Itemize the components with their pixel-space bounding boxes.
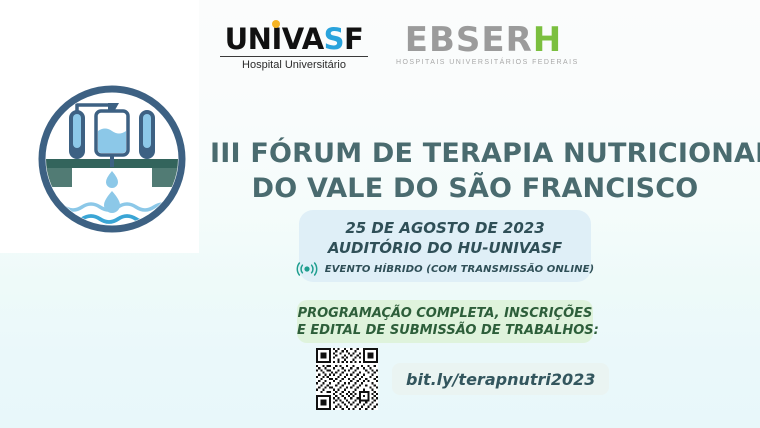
qr-link-row: bit.ly/terapnutri2023	[316, 346, 596, 412]
institution-logos: UNIVASF Hospital Universitário EBSERH HO…	[218, 22, 578, 78]
hybrid-event-row: EVENTO HÍBRIDO (COM TRANSMISSÃO ONLINE)	[299, 261, 591, 277]
short-url-text: bit.ly/terapnutri2023	[406, 370, 595, 389]
event-date: 25 DE AGOSTO DE 2023	[299, 218, 591, 238]
title-line-1: III FÓRUM DE TERAPIA NUTRICIONAL	[210, 136, 740, 171]
event-info-box: 25 DE AGOSTO DE 2023 AUDITÓRIO DO HU-UNI…	[299, 210, 591, 282]
ebserh-subtitle: HOSPITAIS UNIVERSITÁRIOS FEDERAIS	[396, 59, 571, 66]
cta-line-1: PROGRAMAÇÃO COMPLETA, INSCRIÇÕES	[297, 305, 593, 322]
event-poster: UNIVASF Hospital Universitário EBSERH HO…	[0, 0, 760, 428]
univasf-divider	[220, 56, 368, 57]
univasf-wordmark-s: S	[324, 22, 344, 56]
univasf-logo: UNIVASF Hospital Universitário	[218, 22, 370, 71]
univasf-wordmark-suffix: F	[344, 22, 363, 56]
broadcast-icon	[296, 261, 318, 277]
qr-code[interactable]	[316, 348, 378, 410]
univasf-dot-icon	[272, 20, 280, 28]
cta-line-2: E EDITAL DE SUBMISSÃO DE TRABALHOS:	[297, 322, 593, 339]
ebserh-wordmark-h: H	[533, 20, 562, 60]
ebserh-wordmark-prefix: EBSER	[405, 20, 533, 60]
event-venue: AUDITÓRIO DO HU-UNIVASF	[299, 238, 591, 258]
emblem-panel	[0, 0, 199, 253]
ebserh-logo: EBSERH HOSPITAIS UNIVERSITÁRIOS FEDERAIS	[396, 22, 571, 66]
univasf-subtitle: Hospital Universitário	[218, 59, 370, 71]
call-to-action-box: PROGRAMAÇÃO COMPLETA, INSCRIÇÕES E EDITA…	[297, 300, 593, 343]
ebserh-wordmark: EBSERH	[396, 22, 571, 58]
hybrid-event-note: EVENTO HÍBRIDO (COM TRANSMISSÃO ONLINE)	[325, 264, 594, 275]
iv-bag-over-river-bridge-emblem	[36, 83, 188, 235]
title-line-2: DO VALE DO SÃO FRANCISCO	[210, 171, 740, 206]
poster-title: III FÓRUM DE TERAPIA NUTRICIONAL DO VALE…	[210, 136, 740, 206]
short-url-pill[interactable]: bit.ly/terapnutri2023	[392, 363, 609, 395]
univasf-wordmark: UNIVASF	[218, 24, 370, 54]
